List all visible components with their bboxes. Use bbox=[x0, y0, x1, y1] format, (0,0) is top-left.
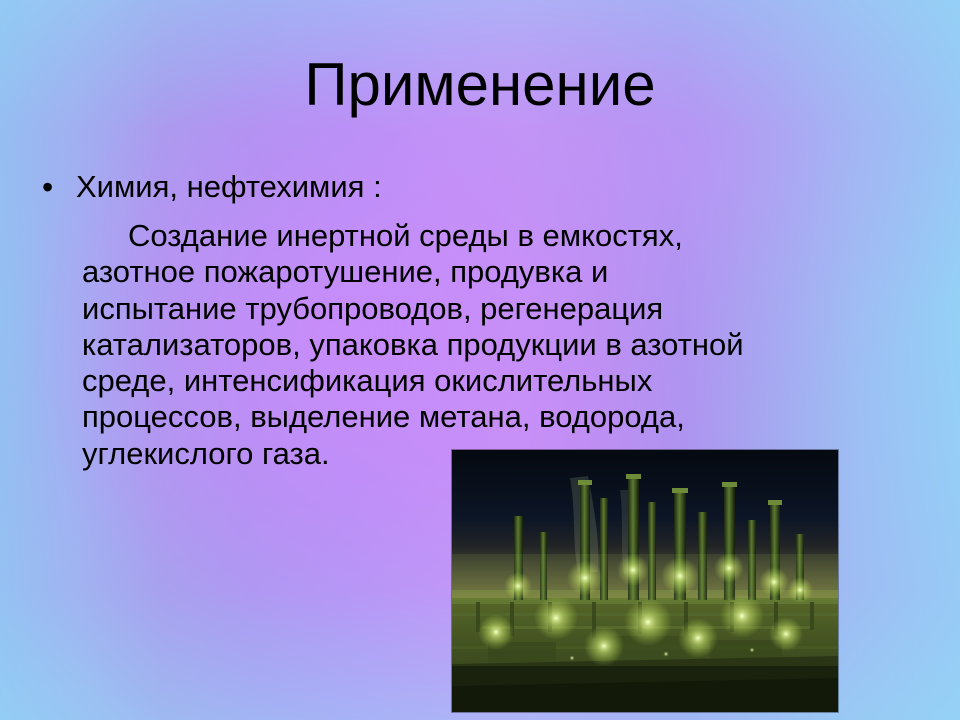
body-line: испытание трубопроводов, регенерация bbox=[82, 291, 892, 327]
bullet-item-label: Химия, нефтехимия : bbox=[76, 168, 382, 206]
body-line: среде, интенсификация окислительных bbox=[82, 363, 892, 399]
body-line: процессов, выделение метана, водорода, bbox=[82, 399, 892, 435]
petrochemical-plant-night-photo bbox=[452, 450, 838, 712]
body-line: катализаторов, упаковка продукции в азот… bbox=[82, 327, 892, 363]
body-line: Создание инертной среды в емкостях, bbox=[82, 218, 892, 254]
body-line: азотное пожаротушение, продувка и bbox=[82, 254, 892, 290]
page-title: Применение bbox=[0, 52, 960, 118]
body-paragraph: Создание инертной среды в емкостях, азот… bbox=[82, 218, 892, 472]
bullet-item-chemistry: • Химия, нефтехимия : bbox=[42, 168, 382, 206]
slide: Применение • Химия, нефтехимия : Создани… bbox=[0, 0, 960, 720]
bullet-dot-icon: • bbox=[42, 168, 76, 206]
